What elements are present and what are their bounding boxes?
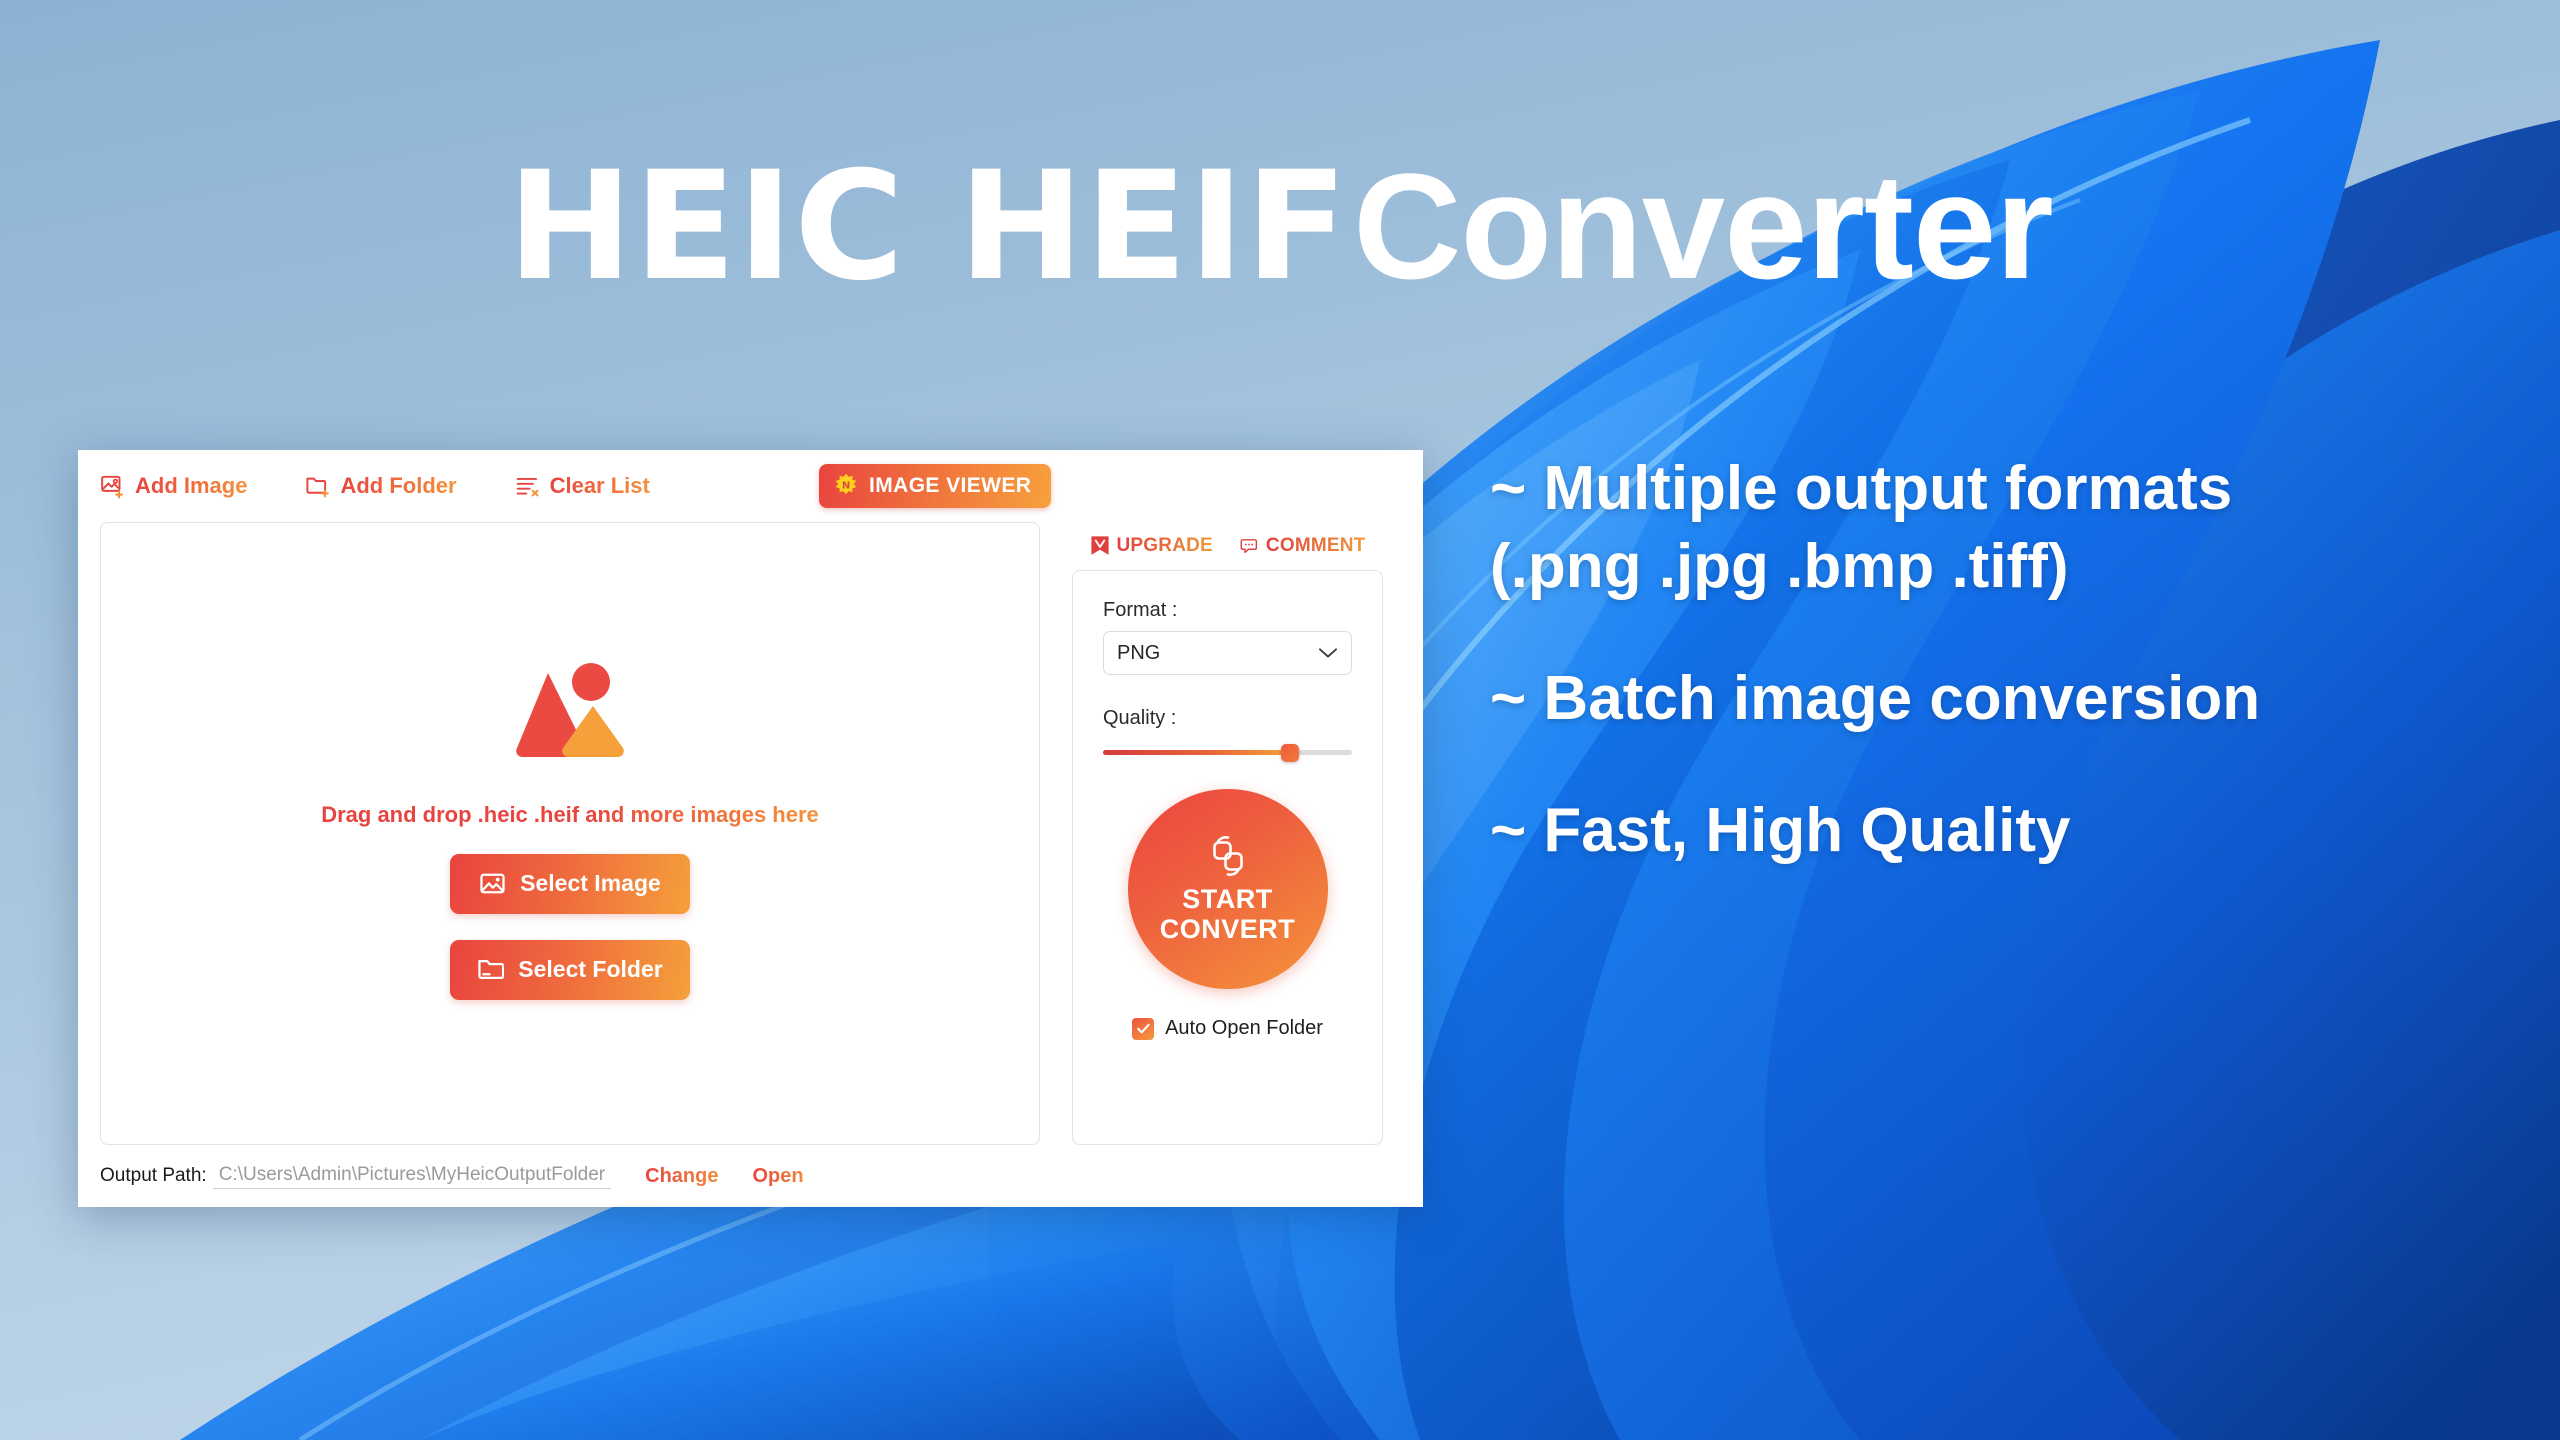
clear-list-button[interactable]: Clear List — [515, 473, 650, 499]
drop-zone-content: Drag and drop .heic .heif and more image… — [321, 660, 819, 1000]
right-panel: UPGRADE COMMENT Format : — [1072, 522, 1383, 1145]
open-path-button[interactable]: Open — [752, 1165, 803, 1188]
quality-slider-thumb[interactable] — [1281, 744, 1299, 762]
add-image-icon — [100, 473, 126, 499]
add-folder-label: Add Folder — [340, 473, 456, 499]
image-viewer-button[interactable]: N IMAGE VIEWER — [819, 464, 1051, 508]
output-path-input[interactable]: C:\Users\Admin\Pictures\MyHeicOutputFold… — [213, 1164, 611, 1189]
auto-open-folder-checkbox[interactable] — [1132, 1018, 1154, 1040]
auto-open-folder-row[interactable]: Auto Open Folder — [1132, 1017, 1323, 1040]
comment-label: COMMENT — [1266, 535, 1366, 557]
select-folder-label: Select Folder — [518, 956, 662, 983]
add-folder-button[interactable]: Add Folder — [305, 473, 456, 499]
quality-slider-fill — [1103, 750, 1290, 755]
heic-converter-window: Add Image Add Folder Clear List — [78, 450, 1423, 1207]
svg-text:N: N — [842, 480, 850, 491]
output-path-bar: Output Path: C:\Users\Admin\Pictures\MyH… — [78, 1145, 1423, 1207]
convert-icon — [1206, 834, 1250, 878]
comment-bubble-icon — [1239, 535, 1259, 557]
upgrade-button[interactable]: UPGRADE — [1090, 535, 1213, 557]
folder-icon — [477, 956, 504, 983]
quality-slider[interactable] — [1103, 750, 1352, 755]
image-viewer-label: IMAGE VIEWER — [869, 474, 1031, 498]
convert-line-2: CONVERT — [1160, 914, 1296, 944]
right-panel-links: UPGRADE COMMENT — [1072, 522, 1383, 570]
clear-list-icon — [515, 473, 541, 499]
auto-open-folder-label: Auto Open Folder — [1165, 1017, 1323, 1040]
add-image-button[interactable]: Add Image — [100, 473, 247, 499]
change-path-button[interactable]: Change — [645, 1165, 718, 1188]
check-icon — [1136, 1021, 1151, 1036]
screenshot-stage: HEIC HEIF Converter ~ Multiple output fo… — [0, 0, 2560, 1440]
upgrade-ribbon-icon — [1090, 535, 1110, 557]
comment-button[interactable]: COMMENT — [1239, 535, 1366, 557]
format-selected-value: PNG — [1117, 642, 1160, 665]
select-image-button[interactable]: Select Image — [450, 854, 690, 914]
new-badge-icon: N — [833, 473, 859, 499]
add-folder-icon — [305, 473, 331, 499]
upgrade-label: UPGRADE — [1117, 535, 1213, 557]
select-folder-button[interactable]: Select Folder — [450, 940, 690, 1000]
format-select[interactable]: PNG — [1103, 631, 1352, 675]
clear-list-label: Clear List — [550, 473, 650, 499]
quality-label: Quality : — [1103, 707, 1352, 730]
toolbar: Add Image Add Folder Clear List — [78, 450, 1423, 522]
drop-zone-message: Drag and drop .heic .heif and more image… — [321, 802, 819, 828]
main-body: Drag and drop .heic .heif and more image… — [78, 522, 1423, 1145]
quality-control: Quality : — [1103, 707, 1352, 755]
picture-icon — [479, 870, 506, 897]
chevron-down-icon — [1318, 647, 1338, 659]
settings-card: Format : PNG Quality : — [1072, 570, 1383, 1145]
convert-line-1: START — [1182, 884, 1273, 914]
add-image-label: Add Image — [135, 473, 247, 499]
select-image-label: Select Image — [520, 870, 661, 897]
format-label: Format : — [1103, 599, 1177, 622]
drop-zone[interactable]: Drag and drop .heic .heif and more image… — [100, 522, 1040, 1145]
image-placeholder-icon — [509, 660, 631, 770]
start-convert-button[interactable]: START CONVERT — [1128, 789, 1328, 989]
output-path-label: Output Path: — [100, 1165, 207, 1187]
